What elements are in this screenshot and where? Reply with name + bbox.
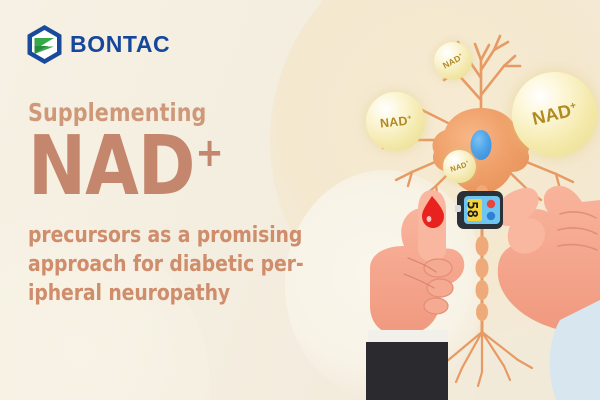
headline-title-main: NAD xyxy=(28,119,194,214)
nad-bubble-large: NAD+ xyxy=(512,72,597,157)
headline-title-superscript: + xyxy=(195,130,222,176)
meter-button-red xyxy=(487,200,495,208)
nad-bubble-small-top-label: NAD+ xyxy=(441,51,465,70)
nad-bubble-medium: NAD+ xyxy=(366,92,425,151)
nad-bubble-small-bottom-label: NAD+ xyxy=(449,159,470,174)
poster-canvas: 58 NAD+ NAD+ NAD+ NAD+ BONTAC Supplement… xyxy=(0,0,600,400)
headline-block: Supplementing NAD+ precursors as a promi… xyxy=(28,100,358,309)
hexagon-leaf-logo-icon xyxy=(26,24,63,65)
nad-bubble-medium-label: NAD+ xyxy=(379,113,412,130)
glucose-meter[interactable]: 58 xyxy=(455,189,509,231)
nad-bubble-small-top: NAD+ xyxy=(434,42,472,80)
headline-title: NAD+ xyxy=(28,128,338,207)
meter-reading-value: 58 xyxy=(459,200,486,220)
headline-subtitle: precursors as a promising approach for d… xyxy=(28,221,335,309)
neuron-nucleus xyxy=(471,130,492,160)
meter-button-blue xyxy=(487,212,495,220)
right-hand-holding-meter xyxy=(495,186,600,400)
left-hand-with-blood-drop xyxy=(366,190,464,400)
dark-sleeve xyxy=(366,342,448,400)
brand-logo[interactable]: BONTAC xyxy=(26,24,170,65)
nad-bubble-large-label: NAD+ xyxy=(530,99,579,130)
brand-wordmark: BONTAC xyxy=(70,33,170,56)
nad-bubble-small-bottom: NAD+ xyxy=(443,150,476,183)
